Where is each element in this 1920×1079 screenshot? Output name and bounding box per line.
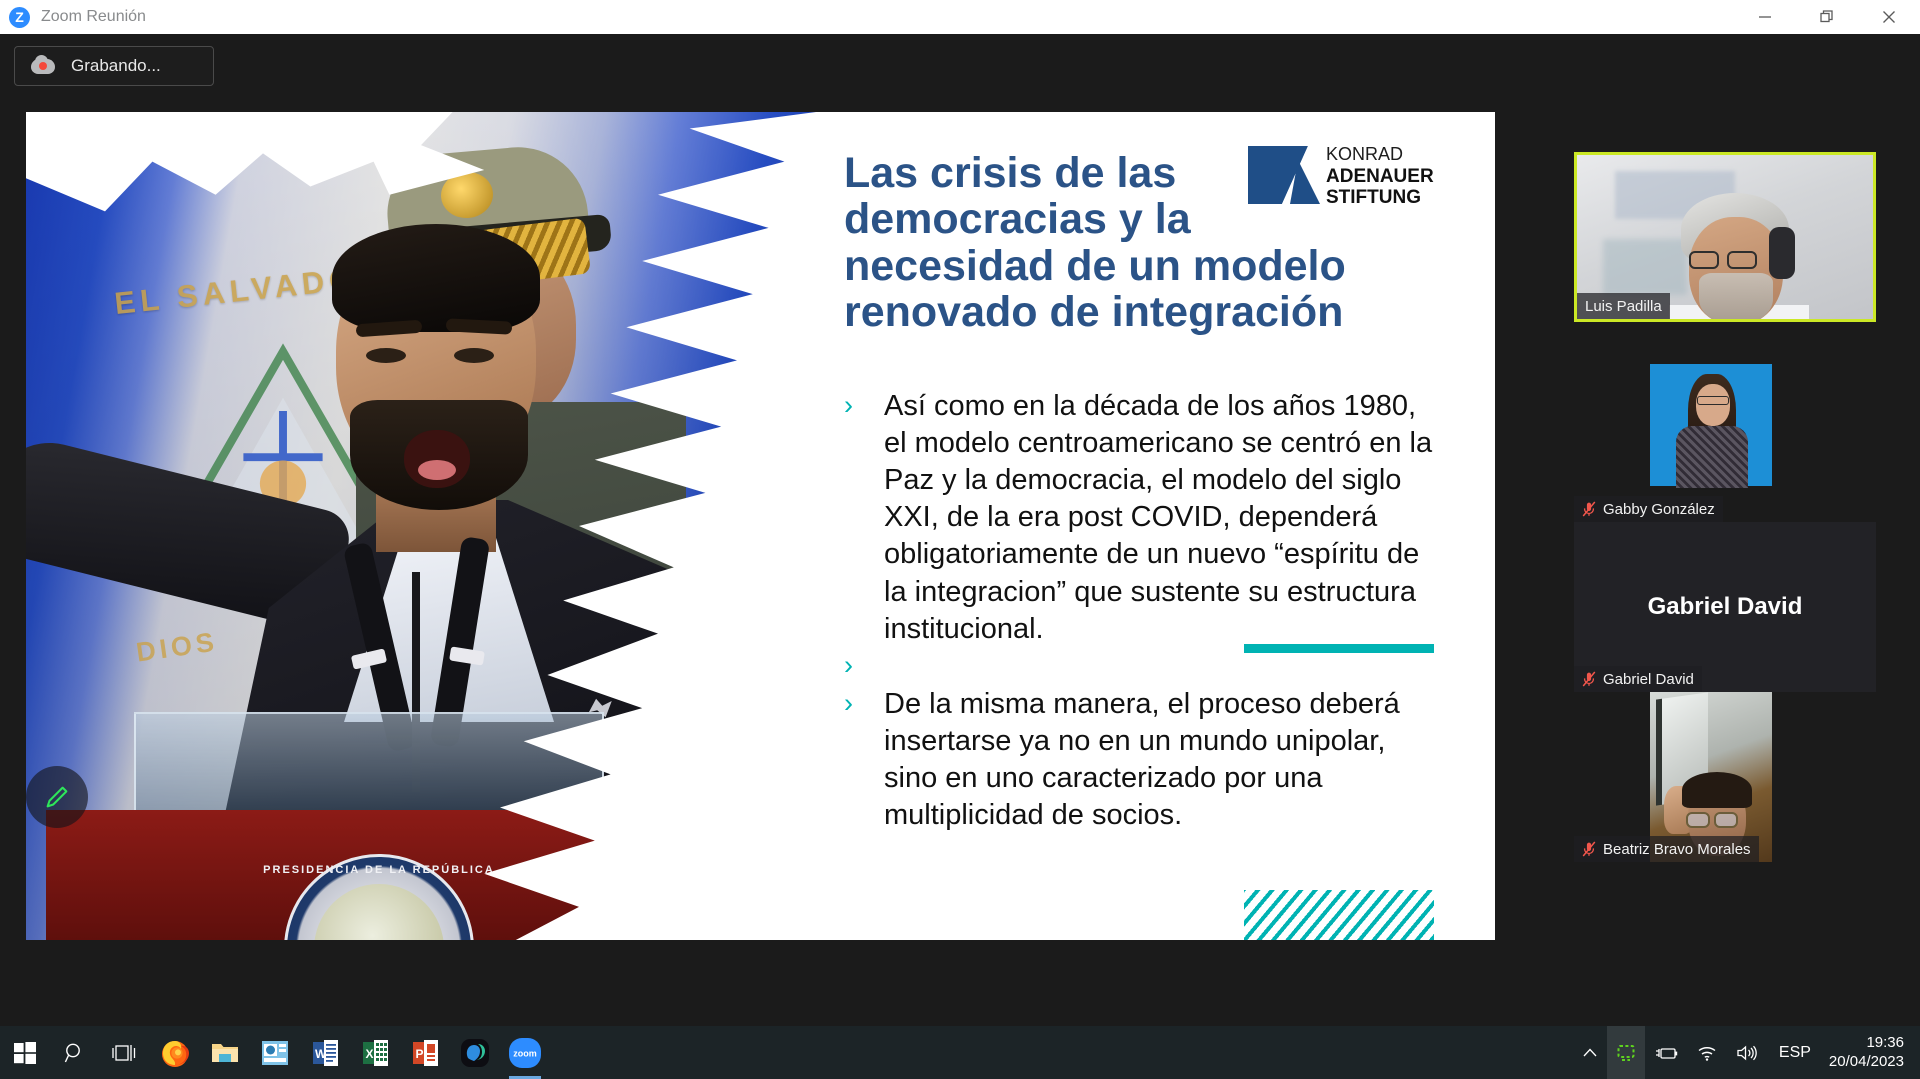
battery-charging-icon [1654, 1044, 1678, 1062]
participant-tile-beatriz-bravo-morales[interactable]: Beatriz Bravo Morales [1574, 692, 1876, 862]
tray-battery-button[interactable] [1645, 1026, 1687, 1079]
participant-name-bar: Gabriel David [1574, 666, 1702, 692]
recording-bar: Grabando... [0, 34, 1920, 96]
mic-muted-icon [1582, 501, 1596, 517]
zoom-icon: zoom [508, 1036, 542, 1070]
recording-label: Grabando... [71, 56, 161, 76]
svg-text:X: X [366, 1047, 374, 1061]
recording-button[interactable]: Grabando... [14, 46, 214, 86]
zoom-logo-icon: Z [9, 7, 30, 28]
president-eye-left [366, 348, 406, 363]
presentation-app[interactable] [250, 1026, 300, 1079]
bullet-item: › Así como en la década de los años 1980… [844, 388, 1434, 648]
excel-icon: X [361, 1039, 389, 1067]
word-app[interactable]: W [300, 1026, 350, 1079]
windows-icon [13, 1041, 37, 1065]
svg-text:W: W [315, 1047, 327, 1061]
participant-tile-luis-padilla[interactable]: Luis Padilla [1574, 152, 1876, 322]
mic-muted-icon [1582, 841, 1596, 857]
participant-name-bar: Beatriz Bravo Morales [1574, 836, 1759, 862]
slides-icon [261, 1039, 289, 1067]
powerpoint-app[interactable]: P [400, 1026, 450, 1079]
svg-text:zoom: zoom [513, 1048, 537, 1058]
president-mouth [404, 430, 470, 488]
accent-rule [1244, 644, 1434, 653]
participant-name: Gabriel David [1603, 671, 1694, 688]
tray-time: 19:36 [1829, 1034, 1904, 1053]
window-title: Zoom Reunión [41, 8, 146, 26]
wifi-icon [1696, 1044, 1718, 1062]
file-explorer-app[interactable] [200, 1026, 250, 1079]
powerpoint-icon: P [411, 1039, 439, 1067]
participant-name: Luis Padilla [1585, 298, 1662, 315]
edge-icon [460, 1038, 490, 1068]
task-view-button[interactable] [100, 1026, 150, 1079]
edge-app[interactable] [450, 1026, 500, 1079]
tray-overflow-button[interactable] [1573, 1026, 1607, 1079]
pen-icon [42, 782, 72, 812]
firefox-app[interactable] [150, 1026, 200, 1079]
firefox-icon [159, 1037, 191, 1069]
slide-photo: EL SALVADOR DIOS [26, 112, 816, 940]
bullet-marker-icon: › [844, 388, 884, 648]
hatched-decoration [1244, 890, 1434, 940]
tray-volume-button[interactable] [1727, 1026, 1767, 1079]
bullet-item: › [844, 648, 1434, 686]
svg-text:P: P [416, 1047, 424, 1061]
bullet-text [884, 648, 1434, 686]
bullet-text: De la misma manera, el proceso deberá in… [884, 686, 1434, 834]
annotation-pen-button[interactable] [26, 766, 88, 828]
shared-screen-stage: EL SALVADOR DIOS [0, 96, 1568, 1026]
screen-share-icon [1616, 1043, 1636, 1063]
tray-clock[interactable]: 19:36 20/04/2023 [1823, 1034, 1920, 1072]
participant-strip: Luis Padilla Gabby González Ga [1568, 96, 1920, 1026]
bullet-marker-icon: › [844, 686, 884, 834]
mic-muted-icon [1582, 671, 1596, 687]
word-icon: W [311, 1039, 339, 1067]
svg-text:KONRAD: KONRAD [1326, 144, 1403, 164]
excel-app[interactable]: X [350, 1026, 400, 1079]
volume-icon [1736, 1044, 1758, 1062]
minimize-button[interactable] [1734, 0, 1796, 34]
svg-text:STIFTUNG: STIFTUNG [1326, 187, 1421, 208]
participant-tile-gabby-gonzalez[interactable]: Gabby González [1574, 352, 1876, 522]
tray-screen-share-button[interactable] [1607, 1026, 1645, 1079]
president-eye-right [454, 348, 494, 363]
slide-bullet-list: › Así como en la década de los años 1980… [844, 388, 1434, 834]
participant-name: Gabby González [1603, 501, 1715, 518]
zoom-app[interactable]: zoom [500, 1026, 550, 1079]
search-button[interactable] [50, 1026, 100, 1079]
search-icon [63, 1041, 87, 1065]
restore-button[interactable] [1796, 0, 1858, 34]
start-button[interactable] [0, 1026, 50, 1079]
tray-date: 20/04/2023 [1829, 1053, 1904, 1072]
podium-glass [134, 712, 604, 812]
presentation-slide: EL SALVADOR DIOS [26, 112, 1495, 940]
participant-tile-gabriel-david[interactable]: Gabriel David Gabriel David [1574, 522, 1876, 692]
system-tray: ESP 19:36 20/04/2023 [1573, 1026, 1920, 1079]
participant-name-bar: Luis Padilla [1577, 293, 1670, 319]
windows-taskbar: W X P [0, 1026, 1920, 1079]
close-button[interactable] [1858, 0, 1920, 34]
folder-icon [210, 1040, 240, 1066]
seal-caption: PRESIDENCIA DE LA REPÚBLICA [263, 864, 495, 876]
task-view-icon [112, 1042, 138, 1064]
window-controls [1734, 0, 1920, 34]
window-title-bar: Z Zoom Reunión [0, 0, 1920, 34]
participant-name: Beatriz Bravo Morales [1603, 841, 1751, 858]
bullet-marker-icon: › [844, 648, 884, 686]
svg-text:ADENAUER: ADENAUER [1326, 166, 1434, 187]
bullet-item: › De la misma manera, el proceso deberá … [844, 686, 1434, 834]
tray-language-indicator[interactable]: ESP [1767, 1044, 1823, 1062]
president-hair [332, 224, 540, 332]
bullet-text: Así como en la década de los años 1980, … [884, 388, 1434, 648]
tray-network-button[interactable] [1687, 1026, 1727, 1079]
chevron-up-icon [1582, 1045, 1598, 1061]
konrad-adenauer-stiftung-logo: KONRAD ADENAUER STIFTUNG [1246, 140, 1446, 210]
recording-cloud-icon [31, 57, 55, 75]
participant-name-bar: Gabby González [1574, 496, 1723, 522]
